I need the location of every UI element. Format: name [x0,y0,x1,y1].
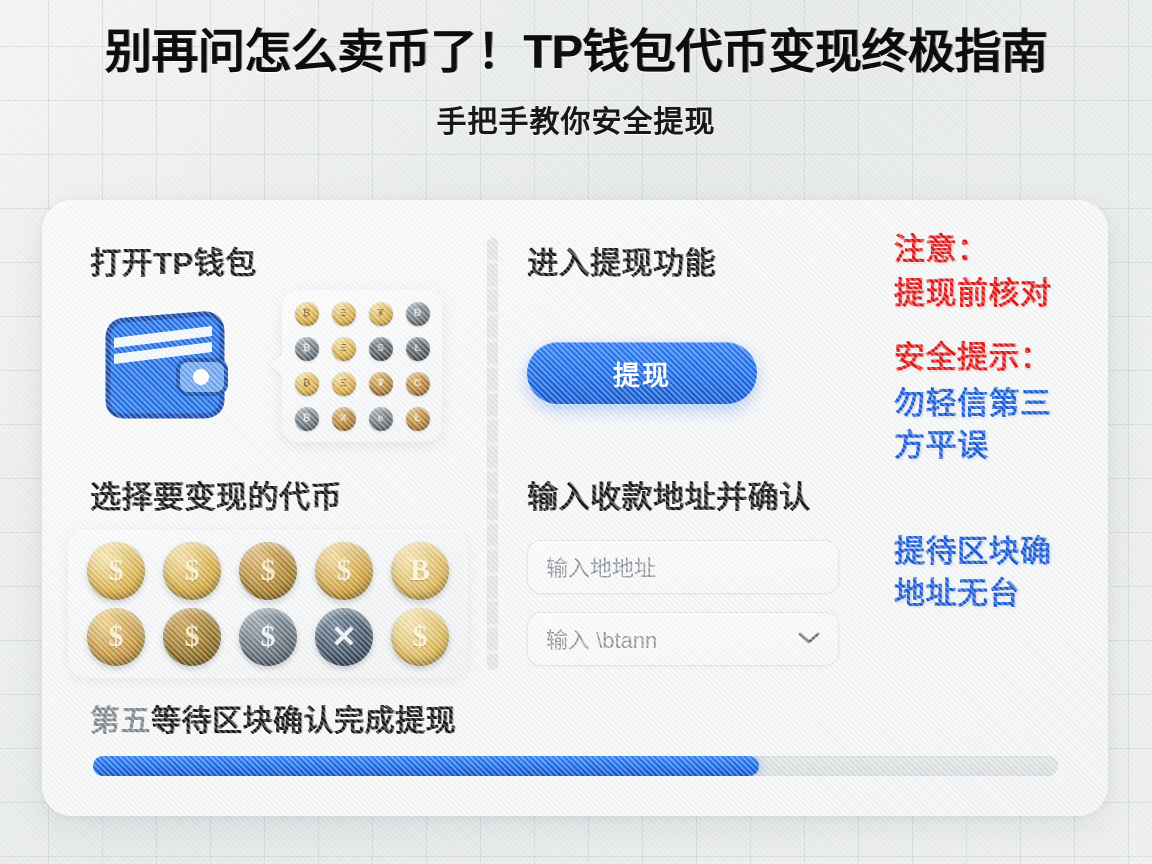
token-coin[interactable]: $ [391,608,449,666]
step3-heading: 进入提现功能 [527,238,716,283]
mini-coin: Ξ [332,302,356,326]
mini-coin: e [369,407,393,431]
chain-select[interactable]: 输入 \btann [527,612,839,666]
progress-bar-fill [93,756,759,776]
token-coin[interactable]: $ [87,608,145,666]
token-coin[interactable]: $ [87,542,145,600]
token-selector-panel[interactable]: $$$$B$$$✕$ [68,530,468,678]
warning-text: 提现前核对 [894,276,1052,313]
step5-heading-text: 等待区块确认完成提现 [151,705,456,738]
mini-coin: Ð [406,302,430,326]
step5-heading: 第五等待区块确认完成提现 [90,696,456,740]
token-balance-bubble: ₿Ξ₮Ð₿ΞSŁ₿Ξ₮C₿XeŁ [282,290,442,442]
mini-coin: C [406,372,430,396]
mini-coin: X [332,407,356,431]
safety-label: 安全提示： [894,340,1052,377]
header: 别再问怎么卖币了！TP钱包代币变现终极指南 手把手教你安全提现 [0,26,1152,141]
mini-coin: Ξ [332,337,356,361]
token-coin[interactable]: ✕ [315,608,373,666]
chevron-down-icon [798,630,820,649]
page-title: 别再问怎么卖币了！TP钱包代币变现终极指南 [0,26,1152,79]
infographic-card: 打开TP钱包 ₿Ξ₮Ð₿ΞSŁ₿Ξ₮C₿XeŁ 选择要变现的代币 $$$$B$$… [42,200,1108,816]
column-divider [487,238,498,670]
mini-coin: ₿ [295,337,319,361]
wallet-icon [94,308,234,424]
warning-label: 注意： [894,232,989,269]
safety-text-line1: 勿轻信第三 [894,386,1052,423]
address-input-placeholder: 输入地地址 [546,551,656,583]
page-root: 别再问怎么卖币了！TP钱包代币变现终极指南 手把手教你安全提现 打开TP钱包 ₿… [0,0,1152,864]
token-coin[interactable]: B [391,542,449,600]
mini-coin: ₮ [369,372,393,396]
mini-coin: ₿ [295,407,319,431]
token-coin[interactable]: $ [163,608,221,666]
token-coin[interactable]: $ [315,542,373,600]
mini-coin: Ξ [332,372,356,396]
token-coin[interactable]: $ [239,542,297,600]
mini-coin: ₿ [295,372,319,396]
mini-coin: ₿ [295,302,319,326]
step1-heading: 打开TP钱包 [90,238,257,283]
chain-select-placeholder: 输入 \btann [546,623,657,655]
token-coin[interactable]: $ [239,608,297,666]
token-coin[interactable]: $ [163,542,221,600]
progress-bar [93,756,1058,776]
step2-heading: 选择要变现的代币 [90,472,342,517]
page-subtitle: 手把手教你安全提现 [0,97,1152,141]
withdraw-button[interactable]: 提现 [527,342,757,404]
mini-coin: ₮ [369,302,393,326]
step4-heading: 输入收款地址并确认 [527,472,811,517]
address-input[interactable]: 输入地地址 [527,540,839,594]
mini-coin: S [369,337,393,361]
mini-coin: Ł [406,407,430,431]
tip-text-line2: 地址无台 [894,576,1020,613]
step5-ordinal: 第五 [90,705,151,738]
safety-text-line2: 方平误 [894,428,989,465]
mini-coin: Ł [406,337,430,361]
tip-text-line1: 提待区块确 [894,534,1052,571]
